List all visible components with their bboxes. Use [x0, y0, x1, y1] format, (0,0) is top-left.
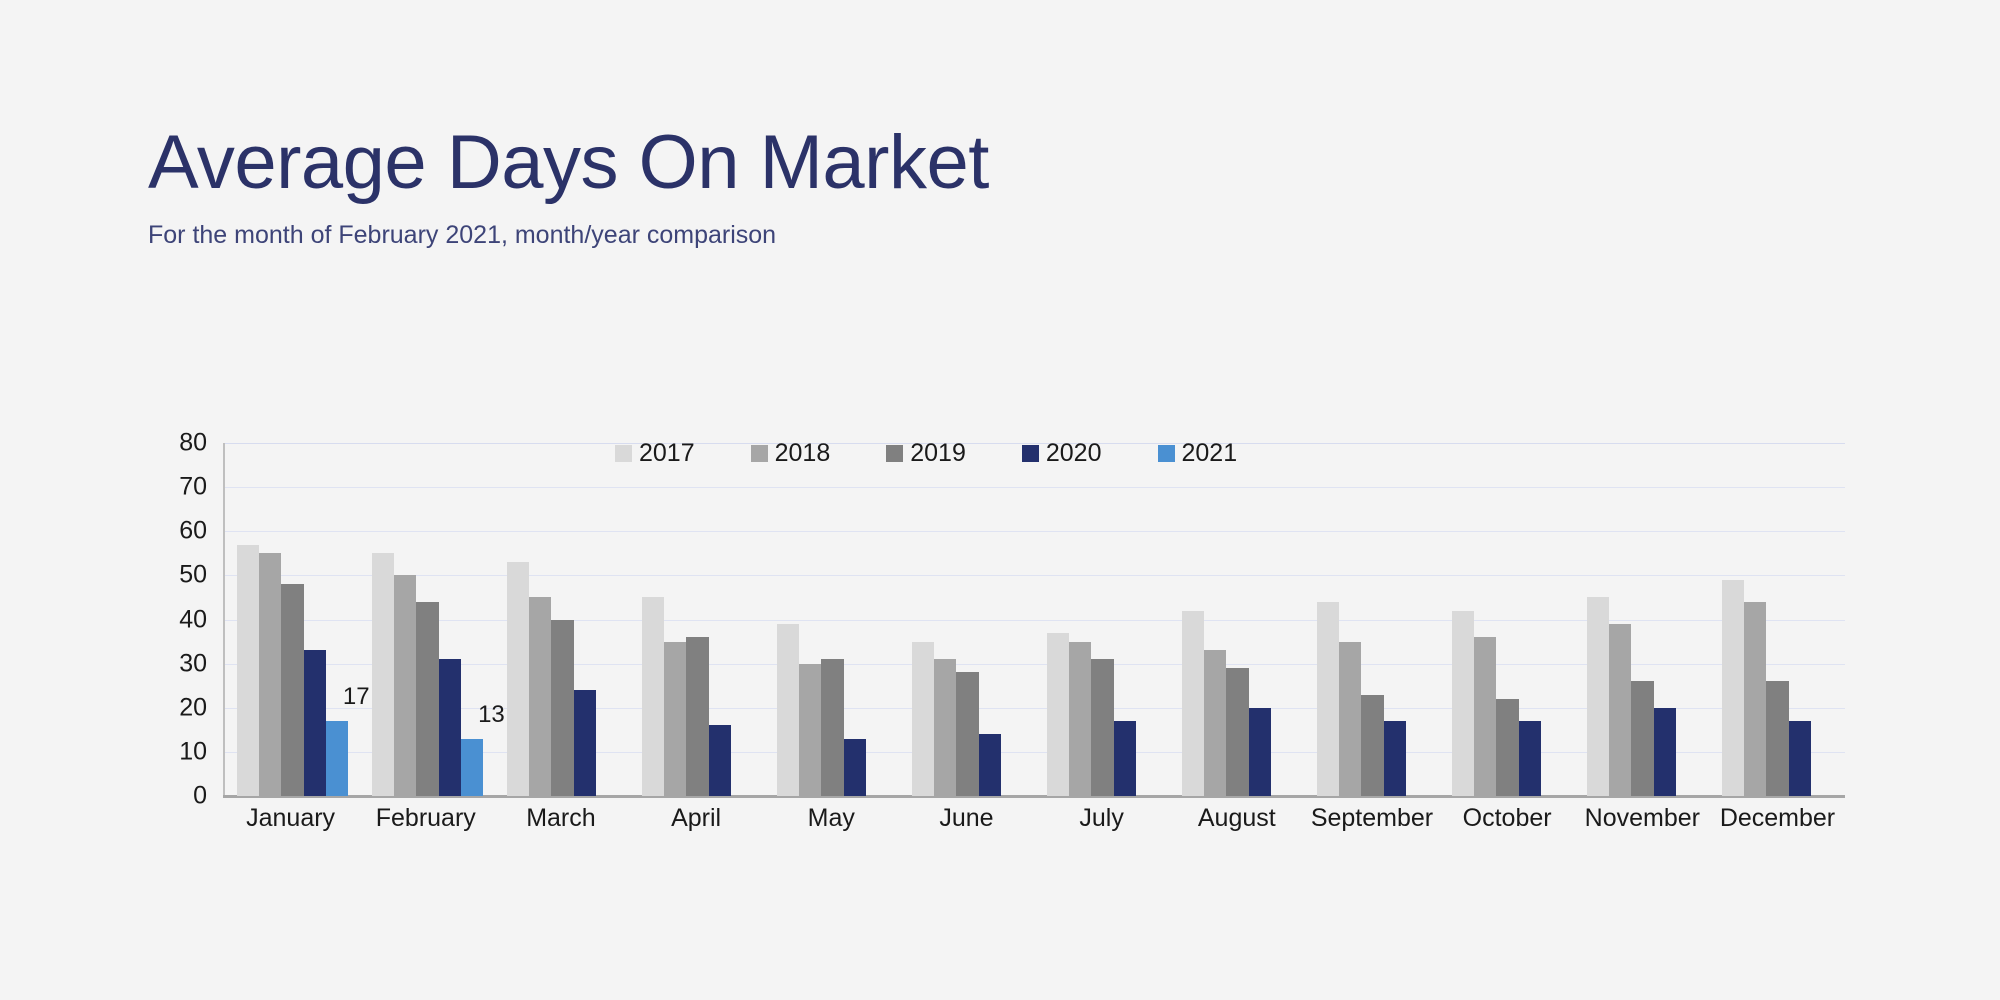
bar-group [630, 443, 765, 796]
bar-2017-july[interactable] [1047, 633, 1069, 796]
plot-box: 20172018201920202021 1713 [223, 443, 1845, 796]
slide: Average Days On Market For the month of … [0, 0, 2000, 1000]
x-axis-label-december: December [1710, 803, 1845, 833]
y-axis-tick: 10 [179, 739, 207, 764]
header-block: Average Days On Market For the month of … [148, 120, 1648, 250]
bar-group [1710, 443, 1845, 796]
bar-group-bars [495, 443, 630, 796]
bar-2020-november[interactable] [1654, 708, 1676, 796]
legend-item-2021[interactable]: 2021 [1158, 441, 1238, 466]
bar-2017-october[interactable] [1452, 611, 1474, 796]
legend-swatch-icon [886, 445, 903, 462]
bar-group [1305, 443, 1440, 796]
bar-2021-january[interactable] [326, 721, 348, 796]
legend-label: 2019 [910, 441, 966, 466]
y-axis-tick: 80 [179, 431, 207, 456]
legend-item-2020[interactable]: 2020 [1022, 441, 1102, 466]
bar-2018-september[interactable] [1339, 642, 1361, 796]
bar-group-bars [1035, 443, 1170, 796]
bar-2019-august[interactable] [1226, 668, 1248, 796]
bar-group [495, 443, 630, 796]
legend-item-2018[interactable]: 2018 [751, 441, 831, 466]
bar-2017-november[interactable] [1587, 597, 1609, 796]
bar-2019-march[interactable] [551, 620, 573, 797]
x-axis-label-july: July [1034, 803, 1169, 833]
legend-label: 2017 [639, 441, 695, 466]
bar-2017-december[interactable] [1722, 580, 1744, 796]
bar-data-label: 17 [343, 685, 370, 709]
bar-chart: 80706050403020100 20172018201920202021 1… [155, 425, 1855, 845]
y-axis-tick: 0 [193, 784, 207, 809]
bar-2019-june[interactable] [956, 672, 978, 796]
bar-2020-april[interactable] [709, 725, 731, 796]
y-axis-tick: 50 [179, 563, 207, 588]
bar-2020-september[interactable] [1384, 721, 1406, 796]
bar-2018-december[interactable] [1744, 602, 1766, 796]
bar-2019-july[interactable] [1091, 659, 1113, 796]
x-axis-label-january: January [223, 803, 358, 833]
x-axis-label-march: March [493, 803, 628, 833]
x-axis-label-november: November [1575, 803, 1710, 833]
bar-2017-august[interactable] [1182, 611, 1204, 796]
bar-2018-november[interactable] [1609, 624, 1631, 796]
bar-groups [225, 443, 1845, 796]
bar-2019-january[interactable] [281, 584, 303, 796]
bar-2018-august[interactable] [1204, 650, 1226, 796]
legend-swatch-icon [615, 445, 632, 462]
bar-group [1575, 443, 1710, 796]
bar-2019-december[interactable] [1766, 681, 1788, 796]
bar-2017-march[interactable] [507, 562, 529, 796]
bar-group [900, 443, 1035, 796]
bar-2018-july[interactable] [1069, 642, 1091, 796]
bar-group-bars [1440, 443, 1575, 796]
bar-2020-june[interactable] [979, 734, 1001, 796]
bar-group-bars [765, 443, 900, 796]
bar-2019-september[interactable] [1361, 695, 1383, 796]
bar-group-bars [1710, 443, 1845, 796]
y-axis-tick: 20 [179, 695, 207, 720]
bar-group [765, 443, 900, 796]
page-subtitle: For the month of February 2021, month/ye… [148, 220, 1648, 250]
bar-2018-october[interactable] [1474, 637, 1496, 796]
page-title: Average Days On Market [148, 120, 1648, 206]
bar-2020-july[interactable] [1114, 721, 1136, 796]
legend-label: 2020 [1046, 441, 1102, 466]
x-axis: JanuaryFebruaryMarchAprilMayJuneJulyAugu… [223, 803, 1845, 833]
legend-item-2019[interactable]: 2019 [886, 441, 966, 466]
bar-2020-january[interactable] [304, 650, 326, 796]
y-axis-tick: 30 [179, 651, 207, 676]
bar-2018-may[interactable] [799, 664, 821, 796]
legend-swatch-icon [751, 445, 768, 462]
legend-swatch-icon [1158, 445, 1175, 462]
bar-group-bars [225, 443, 360, 796]
chart-legend: 20172018201920202021 [615, 441, 1237, 466]
legend-swatch-icon [1022, 445, 1039, 462]
chart-plot-wrapper: 80706050403020100 20172018201920202021 1… [155, 425, 1855, 845]
bar-2018-february[interactable] [394, 575, 416, 796]
bar-2019-october[interactable] [1496, 699, 1518, 796]
bar-2019-april[interactable] [686, 637, 708, 796]
bar-2018-january[interactable] [259, 553, 281, 796]
bar-2017-april[interactable] [642, 597, 664, 796]
y-axis-tick: 60 [179, 519, 207, 544]
bar-2017-may[interactable] [777, 624, 799, 796]
x-axis-label-september: September [1304, 803, 1439, 833]
x-axis-label-august: August [1169, 803, 1304, 833]
bar-group-bars [630, 443, 765, 796]
bar-group [360, 443, 495, 796]
bar-2020-march[interactable] [574, 690, 596, 796]
y-axis-tick: 70 [179, 475, 207, 500]
bar-group-bars [1170, 443, 1305, 796]
bar-group-bars [1305, 443, 1440, 796]
bar-2021-february[interactable] [461, 739, 483, 796]
bar-2020-august[interactable] [1249, 708, 1271, 796]
bar-group-bars [900, 443, 1035, 796]
y-axis-tick: 40 [179, 607, 207, 632]
bar-2017-february[interactable] [372, 553, 394, 796]
x-axis-label-june: June [899, 803, 1034, 833]
bar-group [1440, 443, 1575, 796]
bar-2020-december[interactable] [1789, 721, 1811, 796]
bar-2020-may[interactable] [844, 739, 866, 796]
x-axis-label-october: October [1440, 803, 1575, 833]
bar-2019-may[interactable] [821, 659, 843, 796]
bar-2018-april[interactable] [664, 642, 686, 796]
bar-group-bars [1575, 443, 1710, 796]
bar-group [225, 443, 360, 796]
bar-2020-october[interactable] [1519, 721, 1541, 796]
x-axis-label-april: April [629, 803, 764, 833]
bar-2017-january[interactable] [237, 545, 259, 797]
legend-label: 2021 [1182, 441, 1238, 466]
x-axis-label-may: May [764, 803, 899, 833]
legend-label: 2018 [775, 441, 831, 466]
bar-2017-june[interactable] [912, 642, 934, 796]
bar-data-label: 13 [478, 703, 505, 727]
legend-item-2017[interactable]: 2017 [615, 441, 695, 466]
x-axis-label-february: February [358, 803, 493, 833]
bar-group [1035, 443, 1170, 796]
y-axis: 80706050403020100 [155, 425, 213, 796]
bar-2019-february[interactable] [416, 602, 438, 796]
bar-group-bars [360, 443, 495, 796]
bar-group [1170, 443, 1305, 796]
bar-2020-february[interactable] [439, 659, 461, 796]
bar-2019-november[interactable] [1631, 681, 1653, 796]
bar-2018-march[interactable] [529, 597, 551, 796]
bar-2018-june[interactable] [934, 659, 956, 796]
bar-2017-september[interactable] [1317, 602, 1339, 796]
